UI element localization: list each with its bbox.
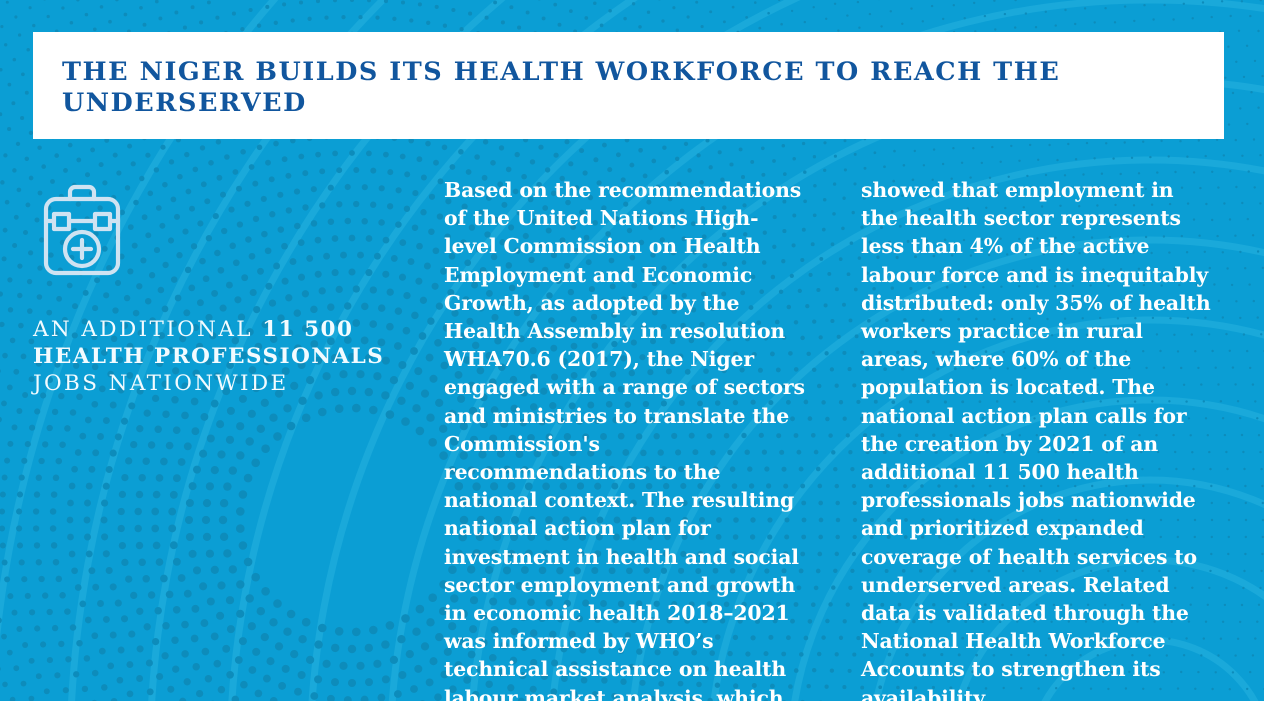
highlight-stat: AN ADDITIONAL 11 500 HEALTH PROFESSIONAL… xyxy=(33,316,413,397)
body-column-2: showed that employment in the health sec… xyxy=(861,176,1217,701)
page-title: The Niger builds its health workforce to… xyxy=(62,57,1204,119)
highlight-stat-line-3: JOBS NATIONWIDE xyxy=(33,370,413,397)
body-column-1: Based on the recommendations of the Unit… xyxy=(444,176,806,701)
body-paragraph-2: showed that employment in the health sec… xyxy=(861,176,1217,701)
medical-kit-icon xyxy=(35,180,129,280)
highlight-stat-line-2: HEALTH PROFESSIONALS xyxy=(33,343,413,370)
highlight-column: AN ADDITIONAL 11 500 HEALTH PROFESSIONAL… xyxy=(33,180,413,397)
body-paragraph-1: Based on the recommendations of the Unit… xyxy=(444,176,806,701)
highlight-stat-value: 11 500 xyxy=(262,317,353,342)
highlight-stat-prefix: AN ADDITIONAL xyxy=(33,317,262,342)
highlight-stat-line-1: AN ADDITIONAL 11 500 xyxy=(33,316,413,343)
header-band: The Niger builds its health workforce to… xyxy=(33,32,1224,139)
infographic-poster: The Niger builds its health workforce to… xyxy=(0,0,1264,701)
